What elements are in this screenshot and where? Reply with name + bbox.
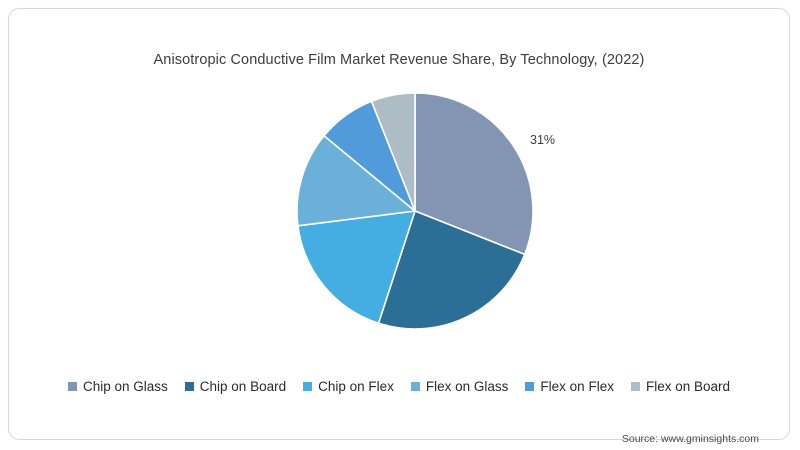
pie-slice-group	[297, 93, 533, 329]
legend-item-label: Flex on Glass	[426, 379, 509, 394]
legend-swatch-icon	[68, 382, 77, 391]
legend-item[interactable]: Flex on Flex	[525, 379, 614, 394]
legend-swatch-icon	[411, 382, 420, 391]
legend-swatch-icon	[303, 382, 312, 391]
pie-chart	[296, 92, 534, 330]
legend-item[interactable]: Chip on Glass	[68, 379, 168, 394]
legend-swatch-icon	[185, 382, 194, 391]
legend-item[interactable]: Chip on Flex	[303, 379, 394, 394]
legend-item-label: Chip on Flex	[318, 379, 394, 394]
legend-item[interactable]: Flex on Board	[631, 379, 730, 394]
pie-chart-svg	[296, 92, 534, 330]
page-title: Anisotropic Conductive Film Market Reven…	[9, 52, 789, 68]
legend-item-label: Flex on Board	[646, 379, 730, 394]
chart-card: Anisotropic Conductive Film Market Reven…	[8, 8, 790, 440]
legend-item-label: Chip on Glass	[83, 379, 168, 394]
slice-value-label-chip-on-glass: 31%	[530, 133, 555, 147]
source-attribution: Source: www.gminsights.com	[622, 433, 759, 445]
legend-item[interactable]: Chip on Board	[185, 379, 286, 394]
legend-swatch-icon	[525, 382, 534, 391]
chart-legend: Chip on GlassChip on BoardChip on FlexFl…	[9, 379, 789, 394]
legend-item-label: Flex on Flex	[540, 379, 614, 394]
legend-item[interactable]: Flex on Glass	[411, 379, 509, 394]
legend-swatch-icon	[631, 382, 640, 391]
legend-item-label: Chip on Board	[200, 379, 286, 394]
